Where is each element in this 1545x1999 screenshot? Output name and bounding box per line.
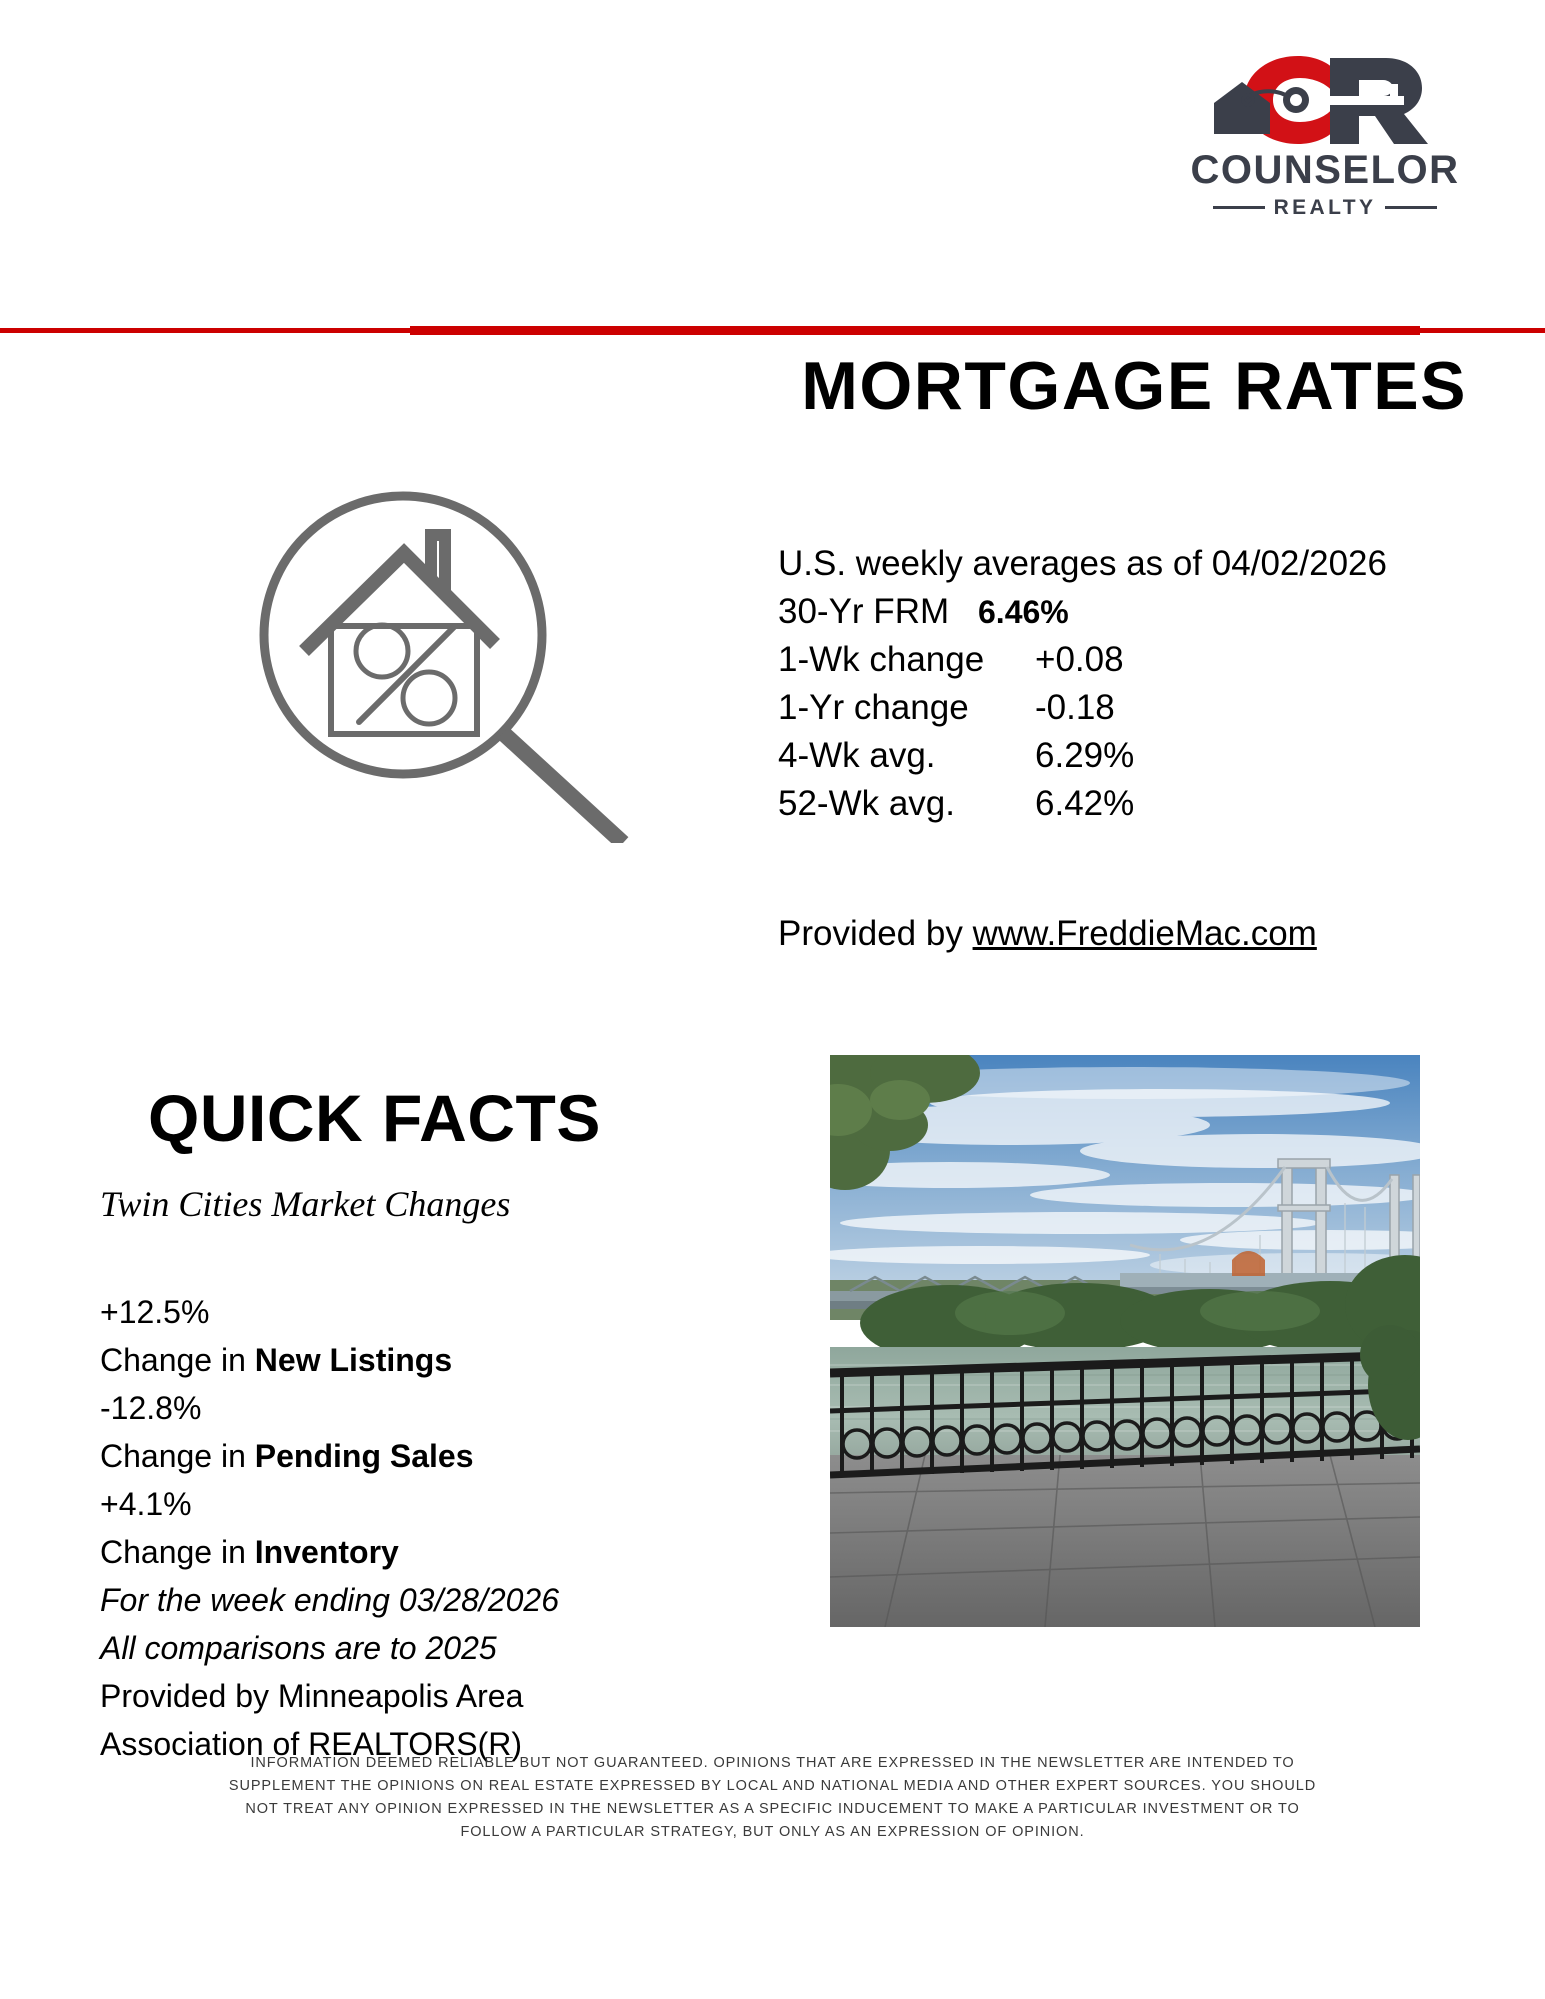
disclaimer-line-2: SUPPLEMENT THE OPINIONS ON REAL ESTATE E…: [0, 1775, 1545, 1798]
rate-value: +0.08: [993, 636, 1155, 684]
quick-facts-comparison-note: All comparisons are to 2025: [100, 1624, 660, 1672]
freddiemac-link[interactable]: www.FreddieMac.com: [973, 914, 1317, 953]
quick-facts-source-line1: Provided by Minneapolis Area: [100, 1672, 660, 1720]
stat-label-bold: New Listings: [255, 1342, 452, 1378]
stat-value-inventory: +4.1%: [100, 1480, 660, 1528]
counselor-realty-logo: COUNSELOR REALTY: [1180, 48, 1470, 208]
disclaimer-text: INFORMATION DEEMED RELIABLE BUT NOT GUAR…: [0, 1752, 1545, 1844]
rates-header-line: U.S. weekly averages as of 04/02/2026: [778, 540, 1398, 588]
quick-facts-subtitle: Twin Cities Market Changes: [100, 1183, 510, 1226]
stat-label-new-listings: Change in New Listings: [100, 1336, 660, 1384]
rate-value: -0.18: [993, 684, 1155, 732]
rate-row-52wk-avg: 52-Wk avg. 6.42%: [778, 780, 1398, 828]
quick-facts-stats: +12.5% Change in New Listings -12.8% Cha…: [100, 1288, 660, 1768]
rate-label: 1-Yr change: [778, 684, 993, 732]
divider-thick-rule: [410, 326, 1420, 335]
logo-rule-left: [1213, 206, 1265, 209]
disclaimer-line-1: INFORMATION DEEMED RELIABLE BUT NOT GUAR…: [0, 1752, 1545, 1775]
stat-label-prefix: Change in: [100, 1342, 255, 1378]
stat-label-prefix: Change in: [100, 1438, 255, 1474]
rate-row-1yr-change: 1-Yr change -0.18: [778, 684, 1398, 732]
mortgage-rates-title: MORTGAGE RATES: [801, 352, 1467, 420]
rate-row-1wk-change: 1-Wk change +0.08: [778, 636, 1398, 684]
quick-facts-title: QUICK FACTS: [148, 1085, 601, 1151]
logo-realty-text: REALTY: [1274, 197, 1377, 218]
red-divider: [0, 326, 1545, 336]
rate-label: 4-Wk avg.: [778, 732, 993, 780]
rate-label: 1-Wk change: [778, 636, 993, 684]
rate-label: 30-Yr FRM: [778, 588, 978, 636]
stat-label-pending-sales: Change in Pending Sales: [100, 1432, 660, 1480]
logo-sub-wordmark: REALTY: [1180, 197, 1470, 218]
rate-value: 6.29%: [993, 732, 1155, 780]
disclaimer-line-4: FOLLOW A PARTICULAR STRATEGY, BUT ONLY A…: [0, 1821, 1545, 1844]
logo-wordmark: COUNSELOR: [1180, 150, 1470, 190]
rate-value: 6.46%: [978, 588, 1069, 636]
stat-value-pending-sales: -12.8%: [100, 1384, 660, 1432]
freddiemac-attribution: Provided by www.FreddieMac.com: [778, 912, 1317, 956]
mortgage-rates-table: U.S. weekly averages as of 04/02/2026 30…: [778, 540, 1398, 828]
rate-row-4wk-avg: 4-Wk avg. 6.29%: [778, 732, 1398, 780]
rate-row-30yr-frm: 30-Yr FRM 6.46%: [778, 588, 1398, 636]
riverfront-bridge-photo: [830, 1055, 1420, 1627]
stat-label-bold: Pending Sales: [255, 1438, 474, 1474]
disclaimer-line-3: NOT TREAT ANY OPINION EXPRESSED IN THE N…: [0, 1798, 1545, 1821]
stat-label-inventory: Change in Inventory: [100, 1528, 660, 1576]
stat-label-bold: Inventory: [255, 1534, 399, 1570]
cr-key-house-logo-icon: [1180, 48, 1470, 148]
rate-value: 6.42%: [993, 780, 1155, 828]
page-header: COUNSELOR REALTY: [0, 0, 1545, 300]
quick-facts-week-note: For the week ending 03/28/2026: [100, 1576, 660, 1624]
stat-label-prefix: Change in: [100, 1534, 255, 1570]
stat-value-new-listings: +12.5%: [100, 1288, 660, 1336]
provided-by-label: Provided by: [778, 914, 973, 953]
logo-rule-right: [1385, 206, 1437, 209]
house-percent-magnifier-icon: [255, 483, 635, 843]
rate-label: 52-Wk avg.: [778, 780, 993, 828]
